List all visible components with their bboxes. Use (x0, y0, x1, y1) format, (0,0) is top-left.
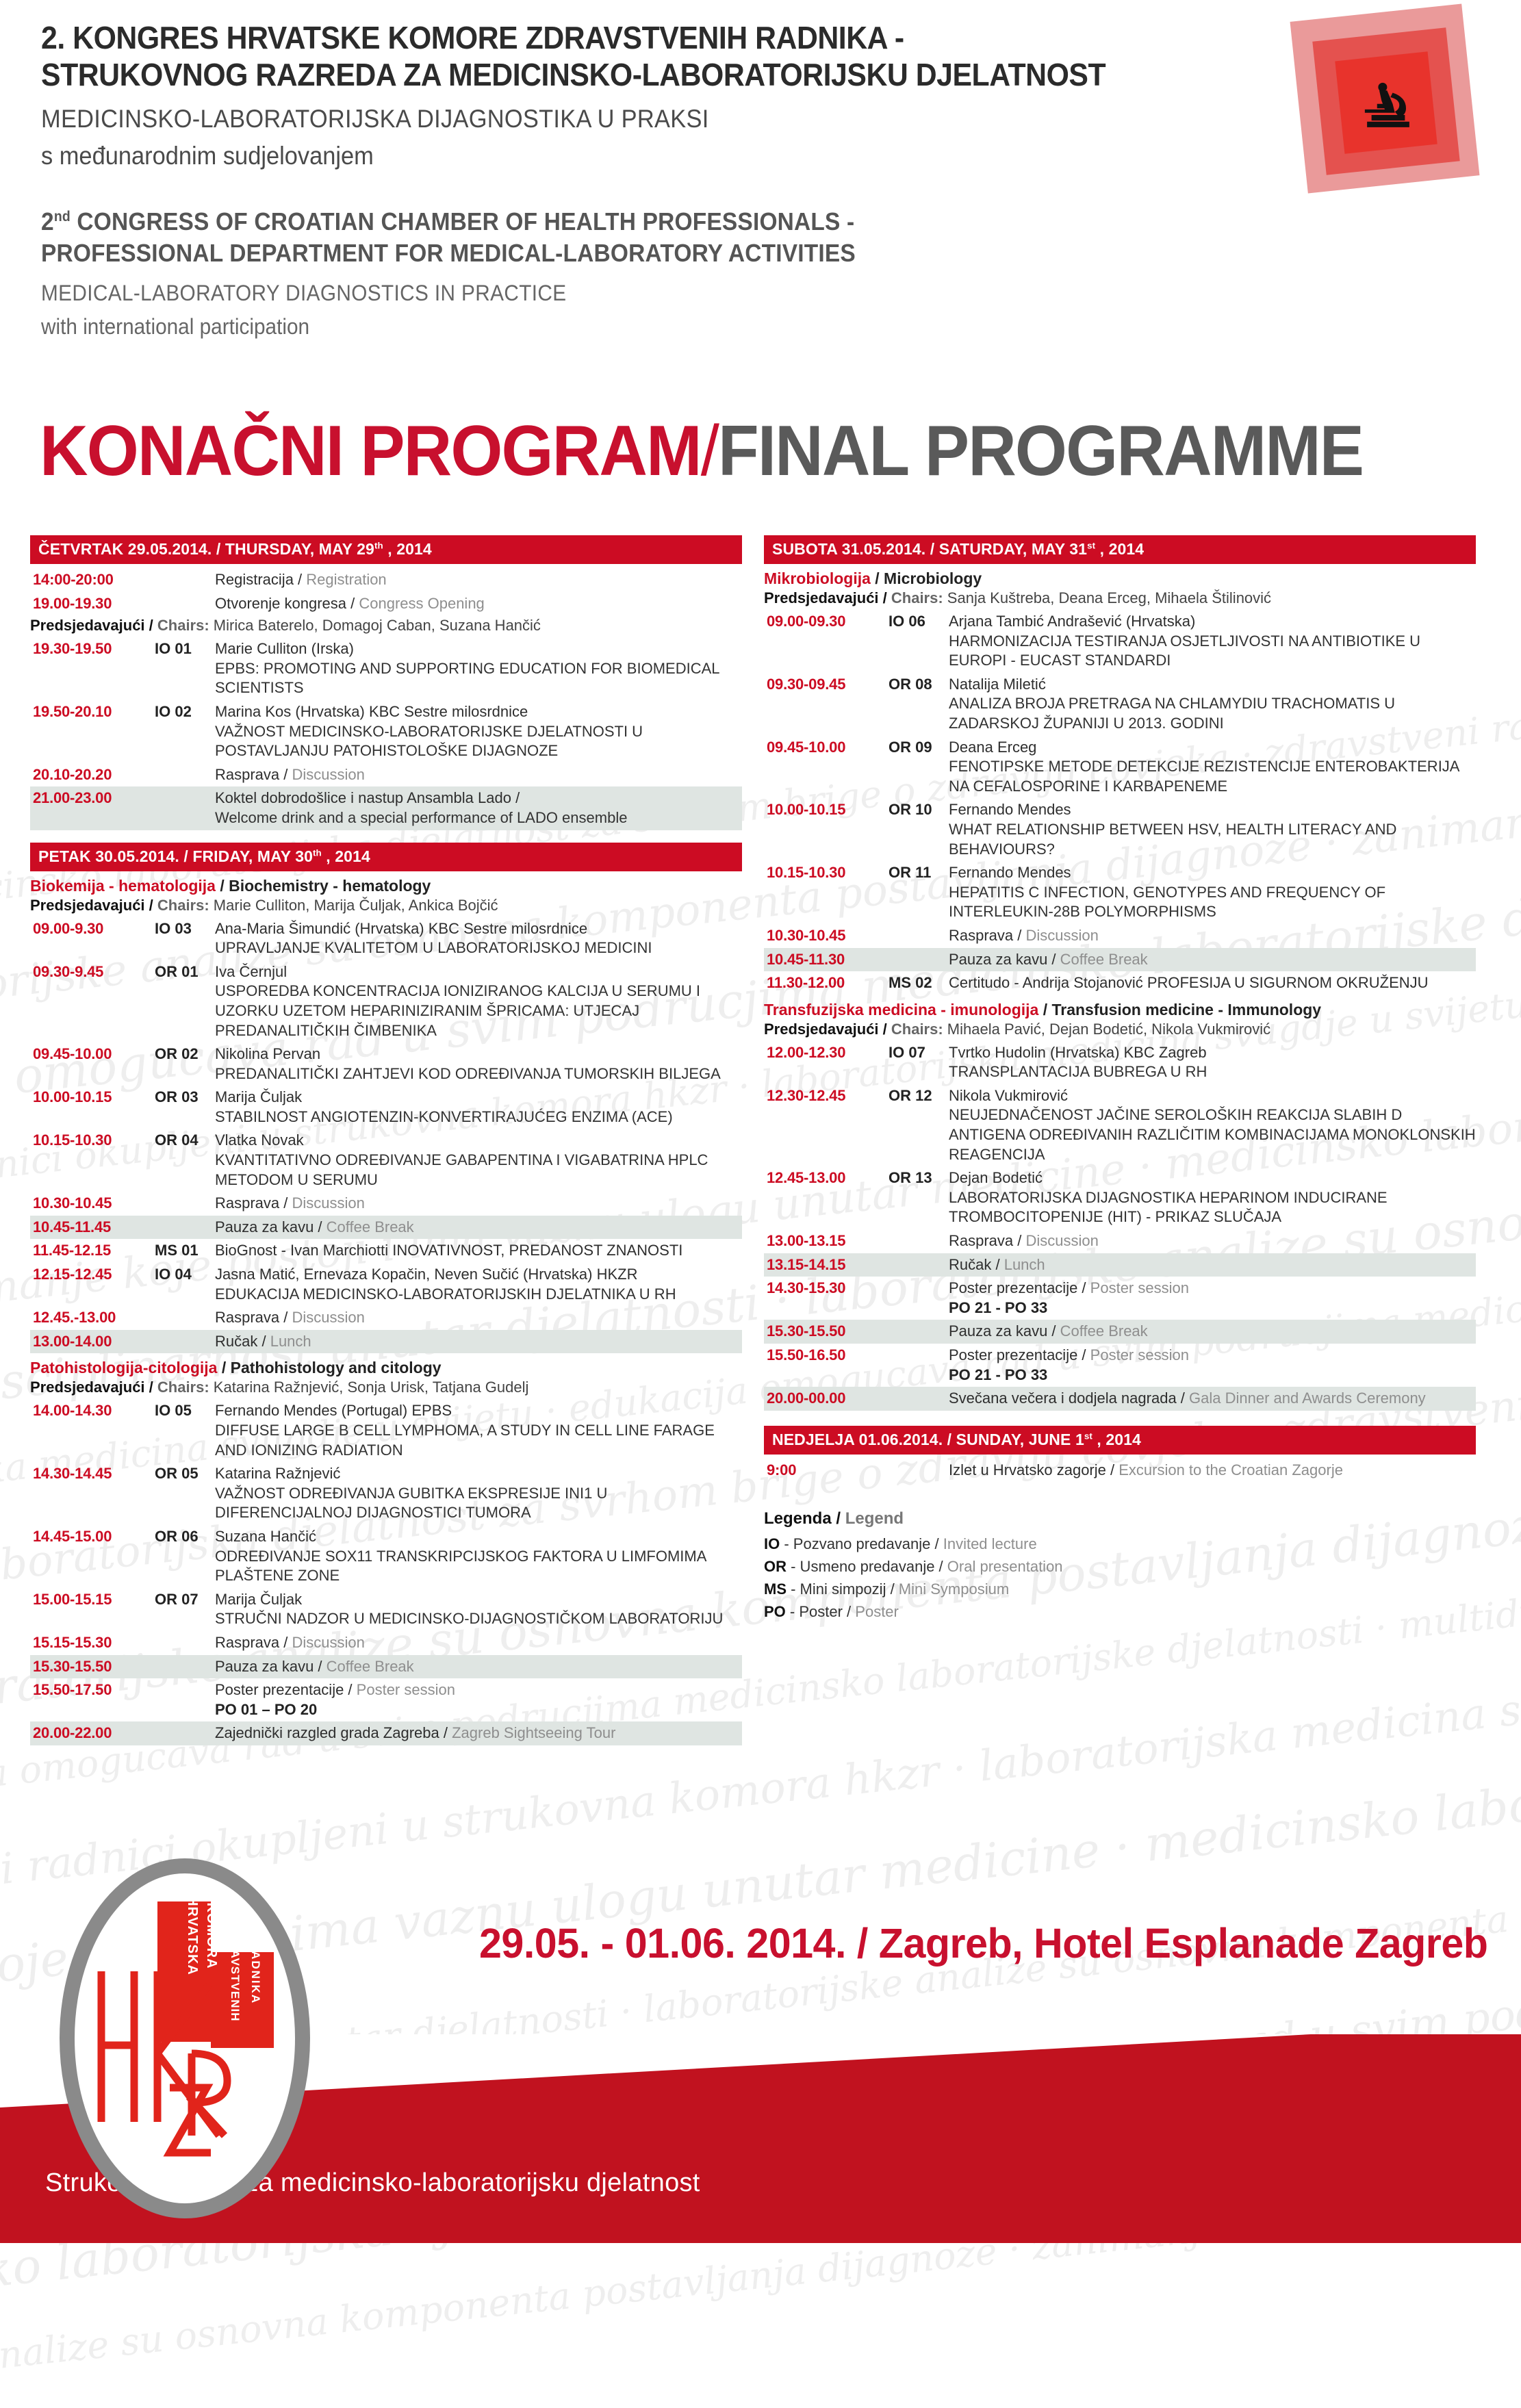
row-text-english: Discussion (292, 1634, 365, 1651)
row-poster-range: PO 21 - PO 33 (949, 1298, 1476, 1318)
legend-item-croatian: - Mini simpozij / (787, 1580, 899, 1598)
day-header-croatian: SUBOTA 31.05.2014. / (772, 540, 934, 558)
row-body: Poster prezentacije / Poster sessionPO 2… (949, 1279, 1476, 1318)
legend-item-code: IO (764, 1535, 780, 1552)
row-text-english: Coffee Break (327, 1218, 414, 1235)
row-presentation-title: ANALIZA BROJA PRETRAGA NA CHLAMYDIU TRAC… (949, 694, 1476, 733)
session-title-croatian: Patohistologija-citologija (30, 1359, 217, 1376)
row-code: OR 05 (155, 1464, 215, 1484)
row-time: 12.00-12.30 (767, 1043, 889, 1063)
row-time: 09.00-9.30 (33, 919, 155, 939)
row-presentation-title: NEUJEDNAČENOST JAČINE SEROLOŠKIH REAKCIJ… (949, 1105, 1476, 1164)
row-time: 15.50-17.50 (33, 1680, 155, 1700)
svg-text:HRVATSKA: HRVATSKA (185, 1896, 200, 1975)
row-text-english: Discussion (292, 766, 365, 783)
row-text-croatian: BioGnost - Ivan Marchiotti INOVATIVNOST,… (215, 1242, 682, 1259)
schedule-row: 10.30-10.45Rasprava / Discussion (764, 924, 1476, 948)
row-body: Rasprava / Discussion (215, 765, 742, 785)
row-text-croatian: Ana-Maria Šimundić (Hrvatska) KBC Sestre… (215, 920, 587, 937)
row-code: OR 01 (155, 962, 215, 982)
row-text-croatian: Iva Černjul (215, 963, 287, 980)
row-text-croatian: Registracija / (215, 571, 306, 588)
row-text-croatian: Fernando Mendes (949, 801, 1071, 818)
schedule-row: 09.45-10.00OR 02Nikolina PervanPREDANALI… (30, 1042, 742, 1086)
subtitle-croatian-2: s međunarodnim sudjelovanjem (41, 142, 1187, 170)
row-body: Jasna Matić, Ernevaza Kopačin, Neven Suč… (215, 1265, 742, 1304)
row-text-croatian: Pauza za kavu / (949, 1322, 1060, 1340)
row-body: Vlatka NovakKVANTITATIVNO ODREĐIVANJE GA… (215, 1131, 742, 1190)
row-text-croatian: Nikolina Pervan (215, 1045, 320, 1062)
ordinal-number: 2 (41, 207, 54, 235)
row-body: Zajednički razgled grada Zagreba / Zagre… (215, 1724, 742, 1743)
row-presentation-title: VAŽNOST ODREĐIVANJA GUBITKA EKSPRESIJE I… (215, 1484, 742, 1523)
poster-header: 2. KONGRES HRVATSKE KOMORE ZDRAVSTVENIH … (41, 19, 1273, 340)
row-body: Tvrtko Hudolin (Hrvatska) KBC ZagrebTRAN… (949, 1043, 1476, 1082)
row-code: OR 13 (889, 1168, 949, 1188)
row-body: Pauza za kavu / Coffee Break (215, 1657, 742, 1677)
row-body: Arjana Tambić Andrašević (Hrvatska)HARMO… (949, 612, 1476, 671)
schedule-row: 13.15-14.15Ručak / Lunch (764, 1253, 1476, 1277)
row-text-croatian: Rasprava / (949, 1232, 1026, 1249)
row-body: Rasprava / Discussion (215, 1194, 742, 1214)
title-english-line1: 2nd CONGRESS OF CROATIAN CHAMBER OF HEAL… (41, 206, 1187, 238)
row-time: 15.50-16.50 (767, 1346, 889, 1366)
row-code: OR 12 (889, 1086, 949, 1106)
legend-title-croatian: Legenda / (764, 1509, 841, 1528)
schedule-row: 10.15-10.30OR 11Fernando MendesHEPATITIS… (764, 861, 1476, 924)
row-time: 13.00-14.00 (33, 1332, 155, 1352)
chairs-names: Sanja Kuštreba, Deana Erceg, Mihaela Šti… (943, 589, 1271, 606)
row-presentation-title: LABORATORIJSKA DIJAGNOSTIKA HEPARINOM IN… (949, 1188, 1476, 1227)
row-body: Rasprava / Discussion (215, 1308, 742, 1328)
svg-text:KOMORA: KOMORA (204, 1902, 219, 1969)
schedule-row: 10.00-10.15OR 03Marija ČuljakSTABILNOST … (30, 1086, 742, 1129)
row-text-croatian: Poster prezentacije / (215, 1681, 357, 1698)
schedule-row: 11.45-12.15MS 01BioGnost - Ivan Marchiot… (30, 1239, 742, 1263)
schedule-row: 19.50-20.10IO 02Marina Kos (Hrvatska) KB… (30, 700, 742, 763)
row-text-english: Excursion to the Croatian Zagorje (1119, 1461, 1343, 1478)
schedule-row: 14.45-15.00OR 06Suzana HančićODREĐIVANJE… (30, 1525, 742, 1588)
row-time: 14:00-20:00 (33, 570, 155, 590)
schedule-row: 09.30-09.45OR 08Natalija MiletićANALIZA … (764, 673, 1476, 736)
legend-item-english: Mini Symposium (899, 1580, 1009, 1598)
row-body: Poster prezentacije / Poster sessionPO 0… (215, 1680, 742, 1719)
row-text-english: Poster session (357, 1681, 455, 1698)
day-header-english: SATURDAY, MAY 31st , 2014 (934, 540, 1144, 558)
session-title-croatian: Transfuzijska medicina - imunologija (764, 1001, 1038, 1019)
row-time: 19.00-19.30 (33, 594, 155, 614)
page-title-croatian: KONAČNI PROGRAM (40, 411, 701, 491)
row-body: Izlet u Hrvatsko zagorje / Excursion to … (949, 1461, 1476, 1481)
schedule-row: 10.00-10.15OR 10Fernando MendesWHAT RELA… (764, 798, 1476, 861)
schedule-row: 12.15-12.45IO 04Jasna Matić, Ernevaza Ko… (30, 1263, 742, 1306)
row-body: Fernando MendesWHAT RELATIONSHIP BETWEEN… (949, 800, 1476, 859)
row-time: 10.00-10.15 (767, 800, 889, 820)
row-code: OR 03 (155, 1088, 215, 1107)
row-presentation-title: STABILNOST ANGIOTENZIN-KONVERTIRAJUĆEG E… (215, 1107, 742, 1127)
schedule-row: 10.30-10.45Rasprava / Discussion (30, 1192, 742, 1216)
row-time: 19.50-20.10 (33, 702, 155, 722)
row-body: Natalija MiletićANALIZA BROJA PRETRAGA N… (949, 675, 1476, 734)
row-code: IO 06 (889, 612, 949, 632)
row-code: MS 01 (155, 1241, 215, 1261)
legend-item-english: Invited lecture (943, 1535, 1037, 1552)
chairs-label-english: Chairs: (153, 617, 209, 634)
row-body: Fernando MendesHEPATITIS C INFECTION, GE… (949, 863, 1476, 922)
row-text-english: Coffee Break (327, 1658, 414, 1675)
row-presentation-title: FENOTIPSKE METODE DETEKCIJE REZISTENCIJE… (949, 757, 1476, 796)
row-text-english: Coffee Break (1060, 951, 1148, 968)
svg-text:ZDRAVSTVENIH: ZDRAVSTVENIH (229, 1924, 242, 2022)
session-chairs: Predsjedavajući / Chairs: Mihaela Pavić,… (764, 1021, 1476, 1038)
schedule-row: 15.30-15.50Pauza za kavu / Coffee Break (30, 1655, 742, 1679)
day-header-croatian: ČETVRTAK 29.05.2014. / (38, 540, 220, 558)
schedule-row: 12.45-13.00OR 13Dejan BodetićLABORATORIJ… (764, 1166, 1476, 1229)
row-text-english: Lunch (270, 1333, 311, 1350)
legend-item-code: PO (764, 1603, 786, 1620)
row-text-croatian: Poster prezentacije / (949, 1346, 1090, 1363)
row-presentation-title: KVANTITATIVNO ODREĐIVANJE GABAPENTINA I … (215, 1151, 742, 1190)
row-time: 15.15-15.30 (33, 1633, 155, 1653)
row-body: Poster prezentacije / Poster sessionPO 2… (949, 1346, 1476, 1385)
row-presentation-title: EDUKACIJA MEDICINSKO-LABORATORIJSKIH DJE… (215, 1285, 742, 1305)
row-text-croatian: Fernando Mendes (949, 864, 1071, 881)
legend: Legenda / LegendIO - Pozvano predavanje … (764, 1509, 1476, 1621)
row-code: OR 08 (889, 675, 949, 695)
legend-item-croatian: - Pozvano predavanje / (780, 1535, 943, 1552)
session-title-english: / Transfusion medicine - Immunology (1038, 1001, 1321, 1019)
legend-item-code: OR (764, 1558, 787, 1575)
row-poster-range: PO 01 – PO 20 (215, 1700, 742, 1720)
chairs-label-english: Chairs: (887, 589, 943, 606)
day-header-sunday: NEDJELJA 01.06.2014. / SUNDAY, JUNE 1st … (764, 1426, 1476, 1455)
row-text-croatian: Dejan Bodetić (949, 1169, 1043, 1186)
session-title: Biokemija - hematologija / Biochemistry … (30, 877, 742, 895)
row-text-croatian: Vlatka Novak (215, 1131, 304, 1149)
row-time: 14.30-14.45 (33, 1464, 155, 1484)
chairs-label-english: Chairs: (887, 1021, 943, 1038)
row-time: 12.45-13.00 (767, 1168, 889, 1188)
row-body: Marie Culliton (Irska)EPBS: PROMOTING AN… (215, 639, 742, 698)
row-text-english: Gala Dinner and Awards Ceremony (1189, 1389, 1426, 1407)
row-time: 10.30-10.45 (767, 926, 889, 946)
chairs-label-croatian: Predsjedavajući / (30, 1379, 153, 1396)
schedule-row: 15.30-15.50Pauza za kavu / Coffee Break (764, 1320, 1476, 1344)
row-time: 15.30-15.50 (767, 1322, 889, 1342)
row-text-croatian: Natalija Miletić (949, 676, 1046, 693)
row-text-croatian: Suzana Hančić (215, 1528, 316, 1545)
row-time: 19.30-19.50 (33, 639, 155, 659)
ordinal-suffix: nd (54, 209, 71, 225)
chairs-names: Marie Culliton, Marija Čuljak, Ankica Bo… (209, 897, 498, 914)
row-text-croatian: Marie Culliton (Irska) (215, 640, 354, 657)
row-presentation-title: UPRAVLJANJE KVALITETOM U LABORATORIJSKOJ… (215, 938, 742, 958)
row-text-croatian: Izlet u Hrvatsko zagorje / (949, 1461, 1119, 1478)
row-time: 14.45-15.00 (33, 1527, 155, 1547)
row-text-croatian: Nikola Vukmirović (949, 1087, 1068, 1104)
row-time: 15.30-15.50 (33, 1657, 155, 1677)
row-text-croatian: Koktel dobrodošlice i nastup Ansambla La… (215, 789, 520, 806)
session-title: Patohistologija-citologija / Pathohistol… (30, 1359, 742, 1377)
page-title: KONAČNI PROGRAM/FINAL PROGRAMME (40, 411, 1363, 492)
legend-item-code: MS (764, 1580, 787, 1598)
row-time: 13.00-13.15 (767, 1231, 889, 1251)
row-presentation-title: HEPATITIS C INFECTION, GENOTYPES AND FRE… (949, 883, 1476, 922)
chairs-label-english: Chairs: (153, 897, 209, 914)
row-body: Certitudo - Andrija Stojanović PROFESIJA… (949, 973, 1476, 993)
row-text-english: Discussion (1026, 927, 1099, 944)
row-body: Rasprava / Discussion (215, 1633, 742, 1653)
row-presentation-title: USPOREDBA KONCENTRACIJA IONIZIRANOG KALC… (215, 982, 742, 1040)
row-body: Ručak / Lunch (949, 1255, 1476, 1275)
row-body: Rasprava / Discussion (949, 1231, 1476, 1251)
row-time: 10.30-10.45 (33, 1194, 155, 1214)
legend-item: OR - Usmeno predavanje / Oral presentati… (764, 1558, 1476, 1576)
schedule-row: 19.00-19.30Otvorenje kongresa / Congress… (30, 592, 742, 616)
row-text-croatian: Ručak / (949, 1256, 1004, 1273)
row-time: 12.30-12.45 (767, 1086, 889, 1106)
row-presentation-title: VAŽNOST MEDICINSKO-LABORATORIJSKE DJELAT… (215, 722, 742, 761)
schedule-row: 19.30-19.50IO 01Marie Culliton (Irska)EP… (30, 637, 742, 700)
row-body: Dejan BodetićLABORATORIJSKA DIJAGNOSTIKA… (949, 1168, 1476, 1227)
hkzr-logo: HRVATSKA KOMORA ZDRAVSTVENIH RADNIKA (48, 1848, 322, 2231)
row-time: 20.10-20.20 (33, 765, 155, 785)
row-text-croatian: Marina Kos (Hrvatska) KBC Sestre milosrd… (215, 703, 528, 720)
microscope-logo (1290, 5, 1509, 211)
row-text-croatian: Marija Čuljak (215, 1088, 302, 1105)
row-body: Katarina RažnjevićVAŽNOST ODREĐIVANJA GU… (215, 1464, 742, 1523)
row-body: Ana-Maria Šimundić (Hrvatska) KBC Sestre… (215, 919, 742, 958)
row-text-english: Lunch (1004, 1256, 1045, 1273)
row-text-croatian: Jasna Matić, Ernevaza Kopačin, Neven Suč… (215, 1266, 637, 1283)
row-text-croatian: Pauza za kavu / (949, 951, 1060, 968)
row-text-croatian: Deana Erceg (949, 739, 1036, 756)
schedule-row: 09.00-9.30IO 03Ana-Maria Šimundić (Hrvat… (30, 917, 742, 960)
chairs-names: Katarina Ražnjević, Sonja Urisk, Tatjana… (209, 1379, 529, 1396)
row-text-croatian: Rasprava / (949, 927, 1026, 944)
row-code: IO 04 (155, 1265, 215, 1285)
schedule-row: 14.30-15.30Poster prezentacije / Poster … (764, 1277, 1476, 1320)
session-chairs: Predsjedavajući / Chairs: Sanja Kuštreba… (764, 589, 1476, 607)
row-time: 14.30-15.30 (767, 1279, 889, 1298)
legend-item-english: Poster (855, 1603, 899, 1620)
schedule-row: 13.00-14.00Ručak / Lunch (30, 1330, 742, 1354)
row-text-croatian: Ručak / (215, 1333, 270, 1350)
row-time: 20.00-22.00 (33, 1724, 155, 1743)
session-chairs: Predsjedavajući / Chairs: Katarina Ražnj… (30, 1379, 742, 1396)
row-text-croatian: Zajednički razgled grada Zagreba / (215, 1724, 452, 1741)
row-text-croatian: Svečana večera i dodjela nagrada / (949, 1389, 1189, 1407)
row-presentation-title: HARMONIZACIJA TESTIRANJA OSJETLJIVOSTI N… (949, 632, 1476, 671)
row-code: OR 04 (155, 1131, 215, 1151)
row-body: Deana ErcegFENOTIPSKE METODE DETEKCIJE R… (949, 738, 1476, 797)
page-title-separator: / (701, 411, 718, 491)
legend-item: PO - Poster / Poster (764, 1603, 1476, 1621)
row-code: OR 06 (155, 1527, 215, 1547)
row-text-croatian: Rasprava / (215, 766, 292, 783)
day-header-croatian: PETAK 30.05.2014. / (38, 847, 188, 865)
session-chairs: Predsjedavajući / Chairs: Mirica Baterel… (30, 617, 742, 635)
row-text-croatian: Pauza za kavu / (215, 1218, 327, 1235)
schedule-row: 12.45.-13.00Rasprava / Discussion (30, 1306, 742, 1330)
row-presentation-title: ODREĐIVANJE SOX11 TRANSKRIPCIJSKOG FAKTO… (215, 1547, 742, 1586)
schedule-column-right: SUBOTA 31.05.2014. / SATURDAY, MAY 31st … (764, 535, 1476, 1626)
subtitle-croatian-1: MEDICINSKO-LABORATORIJSKA DIJAGNOSTIKA U… (41, 105, 1187, 133)
row-time: 10.45-11.45 (33, 1218, 155, 1238)
row-body: Pauza za kavu / Coffee Break (215, 1218, 742, 1238)
row-time: 10.15-10.30 (767, 863, 889, 883)
row-text-croatian: Arjana Tambić Andrašević (Hrvatska) (949, 613, 1195, 630)
session-chairs: Predsjedavajući / Chairs: Marie Culliton… (30, 897, 742, 914)
row-time: 10.00-10.15 (33, 1088, 155, 1107)
schedule-row: 09.45-10.00OR 09Deana ErcegFENOTIPSKE ME… (764, 736, 1476, 799)
row-body: Suzana HančićODREĐIVANJE SOX11 TRANSKRIP… (215, 1527, 742, 1586)
row-text-croatian: Pauza za kavu / (215, 1658, 327, 1675)
schedule-row: 20.00-00.00Svečana večera i dodjela nagr… (764, 1387, 1476, 1411)
schedule-row: 20.00-22.00Zajednički razgled grada Zagr… (30, 1721, 742, 1745)
row-time: 11.30-12.00 (767, 973, 889, 993)
row-text-croatian: Marija Čuljak (215, 1591, 302, 1608)
row-text-english: Coffee Break (1060, 1322, 1148, 1340)
row-time: 12.45.-13.00 (33, 1308, 155, 1328)
row-time: 09.30-09.45 (767, 675, 889, 695)
row-text-croatian: Tvrtko Hudolin (Hrvatska) KBC Zagreb (949, 1044, 1207, 1061)
schedule-row: 13.00-13.15Rasprava / Discussion (764, 1229, 1476, 1253)
subtitle-english-1: MEDICAL-LABORATORY DIAGNOSTICS IN PRACTI… (41, 281, 1187, 306)
schedule-row: 09.30-9.45OR 01Iva ČernjulUSPOREDBA KONC… (30, 960, 742, 1042)
day-header-friday: PETAK 30.05.2014. / FRIDAY, MAY 30th , 2… (30, 843, 742, 871)
row-body: Marina Kos (Hrvatska) KBC Sestre milosrd… (215, 702, 742, 761)
day-header-english: SUNDAY, JUNE 1st , 2014 (951, 1431, 1141, 1448)
date-and-venue: 29.05. - 01.06. 2014. / Zagreb, Hotel Es… (479, 1919, 1487, 1967)
row-body: Fernando Mendes (Portugal) EPBSDIFFUSE L… (215, 1401, 742, 1460)
row-presentation-title: EPBS: PROMOTING AND SUPPORTING EDUCATION… (215, 659, 742, 698)
row-code: IO 07 (889, 1043, 949, 1063)
row-text-croatian: Katarina Ražnjević (215, 1465, 340, 1482)
row-time: 11.45-12.15 (33, 1241, 155, 1261)
row-code: OR 02 (155, 1045, 215, 1064)
row-code: IO 05 (155, 1401, 215, 1421)
title-english-line2: PROFESSIONAL DEPARTMENT FOR MEDICAL-LABO… (41, 238, 1187, 270)
row-presentation-title: STRUČNI NADZOR U MEDICINSKO-DIJAGNOSTIČK… (215, 1609, 742, 1629)
row-body: BioGnost - Ivan Marchiotti INOVATIVNOST,… (215, 1241, 742, 1261)
chairs-names: Mihaela Pavić, Dejan Bodetić, Nikola Vuk… (943, 1021, 1271, 1038)
row-body: Svečana večera i dodjela nagrada / Gala … (949, 1389, 1476, 1409)
schedule-column-left: ČETVRTAK 29.05.2014. / THURSDAY, MAY 29t… (30, 535, 742, 1745)
row-presentation-title: PREDANALITIČKI ZAHTJEVI KOD ODREĐIVANJA … (215, 1064, 742, 1084)
row-time: 15.00-15.15 (33, 1590, 155, 1610)
row-body: Ručak / Lunch (215, 1332, 742, 1352)
row-time: 12.15-12.45 (33, 1265, 155, 1285)
row-time: 13.15-14.15 (767, 1255, 889, 1275)
poster-page: 2. KONGRES HRVATSKE KOMORE ZDRAVSTVENIH … (0, 0, 1521, 2243)
row-text-english: Poster session (1090, 1346, 1189, 1363)
chairs-label-croatian: Predsjedavajući / (764, 1021, 887, 1038)
row-body: Koktel dobrodošlice i nastup Ansambla La… (215, 789, 742, 828)
schedule-row: 21.00-23.00Koktel dobrodošlice i nastup … (30, 786, 742, 830)
row-body: Registracija / Registration (215, 570, 742, 590)
row-presentation-title: WHAT RELATIONSHIP BETWEEN HSV, HEALTH LI… (949, 820, 1476, 859)
row-time: 09.30-9.45 (33, 962, 155, 982)
page-title-english: FINAL PROGRAMME (718, 411, 1363, 491)
row-text-english: Congress Opening (359, 595, 484, 612)
row-body: Iva ČernjulUSPOREDBA KONCENTRACIJA IONIZ… (215, 962, 742, 1040)
row-text-english: Poster session (1090, 1279, 1189, 1296)
schedule-row: 10.15-10.30OR 04Vlatka NovakKVANTITATIVN… (30, 1129, 742, 1192)
svg-text:RADNIKA: RADNIKA (249, 1941, 262, 2004)
row-code: IO 01 (155, 639, 215, 659)
schedule-row: 14:00-20:00Registracija / Registration (30, 568, 742, 592)
row-text-croatian: Fernando Mendes (Portugal) EPBS (215, 1402, 452, 1419)
title-croatian-line1: 2. KONGRES HRVATSKE KOMORE ZDRAVSTVENIH … (41, 19, 1187, 56)
row-text-english: Zagreb Sightseeing Tour (452, 1724, 615, 1741)
schedule-row: 15.50-16.50Poster prezentacije / Poster … (764, 1344, 1476, 1387)
schedule-row: 09.00-09.30IO 06Arjana Tambić Andrašević… (764, 610, 1476, 673)
subtitle-english-2: with international participation (41, 314, 1187, 340)
chairs-names: Mirica Baterelo, Domagoj Caban, Suzana H… (209, 617, 541, 634)
row-text-english: Discussion (292, 1194, 365, 1212)
row-poster-range: PO 21 - PO 33 (949, 1366, 1476, 1385)
legend-item: MS - Mini simpozij / Mini Symposium (764, 1580, 1476, 1598)
session-title: Transfuzijska medicina - imunologija / T… (764, 1001, 1476, 1019)
row-time: 14.00-14.30 (33, 1401, 155, 1421)
day-header-thursday: ČETVRTAK 29.05.2014. / THURSDAY, MAY 29t… (30, 535, 742, 564)
chairs-label-croatian: Predsjedavajući / (30, 617, 153, 634)
legend-title-english: Legend (841, 1509, 904, 1528)
schedule-row: 15.50-17.50Poster prezentacije / Poster … (30, 1678, 742, 1721)
session-title-english: / Pathohistology and citology (217, 1359, 441, 1376)
row-code: OR 07 (155, 1590, 215, 1610)
schedule-row: 20.10-20.20Rasprava / Discussion (30, 763, 742, 787)
row-body: Rasprava / Discussion (949, 926, 1476, 946)
legend-item-croatian: - Usmeno predavanje / (787, 1558, 947, 1575)
title-croatian-line2: STRUKOVNOG RAZREDA ZA MEDICINSKO-LABORAT… (41, 56, 1187, 93)
schedule-row: 10.45-11.30Pauza za kavu / Coffee Break (764, 948, 1476, 972)
chairs-label-croatian: Predsjedavajući / (30, 897, 153, 914)
schedule-row: 14.00-14.30IO 05Fernando Mendes (Portuga… (30, 1399, 742, 1462)
schedule-row: 12.30-12.45OR 12Nikola VukmirovićNEUJEDN… (764, 1084, 1476, 1166)
row-time: 9:00 (767, 1461, 889, 1481)
chairs-label-english: Chairs: (153, 1379, 209, 1396)
row-text-croatian: Otvorenje kongresa / (215, 595, 359, 612)
row-body: Nikolina PervanPREDANALITIČKI ZAHTJEVI K… (215, 1045, 742, 1084)
row-time: 10.45-11.30 (767, 950, 889, 970)
row-code: IO 02 (155, 702, 215, 722)
day-header-saturday: SUBOTA 31.05.2014. / SATURDAY, MAY 31st … (764, 535, 1476, 564)
row-text-croatian: Poster prezentacije / (949, 1279, 1090, 1296)
session-title-english: / Biochemistry - hematology (216, 877, 431, 895)
row-text-croatian: Rasprava / (215, 1194, 292, 1212)
microscope-icon (1351, 68, 1426, 144)
row-body: Marija ČuljakSTRUČNI NADZOR U MEDICINSKO… (215, 1590, 742, 1629)
schedule-row: 11.30-12.00MS 02Certitudo - Andrija Stoj… (764, 971, 1476, 995)
row-text-english: Discussion (1026, 1232, 1099, 1249)
row-time: 21.00-23.00 (33, 789, 155, 808)
row-code: OR 11 (889, 863, 949, 883)
legend-title: Legenda / Legend (764, 1509, 1476, 1528)
row-code: IO 03 (155, 919, 215, 939)
row-body: Nikola VukmirovićNEUJEDNAČENOST JAČINE S… (949, 1086, 1476, 1164)
row-text-croatian: Rasprava / (215, 1309, 292, 1326)
row-time: 09.45-10.00 (767, 738, 889, 758)
row-text-croatian: Certitudo - Andrija Stojanović PROFESIJA… (949, 974, 1429, 991)
row-body: Pauza za kavu / Coffee Break (949, 950, 1476, 970)
row-presentation-title: TRANSPLANTACIJA BUBREGA U RH (949, 1062, 1476, 1082)
row-text-english: Registration (306, 571, 386, 588)
schedule-row: 12.00-12.30IO 07Tvrtko Hudolin (Hrvatska… (764, 1041, 1476, 1084)
schedule-row: 9:00Izlet u Hrvatsko zagorje / Excursion… (764, 1459, 1476, 1483)
row-presentation-title: DIFFUSE LARGE B CELL LYMPHOMA, A STUDY I… (215, 1421, 742, 1460)
